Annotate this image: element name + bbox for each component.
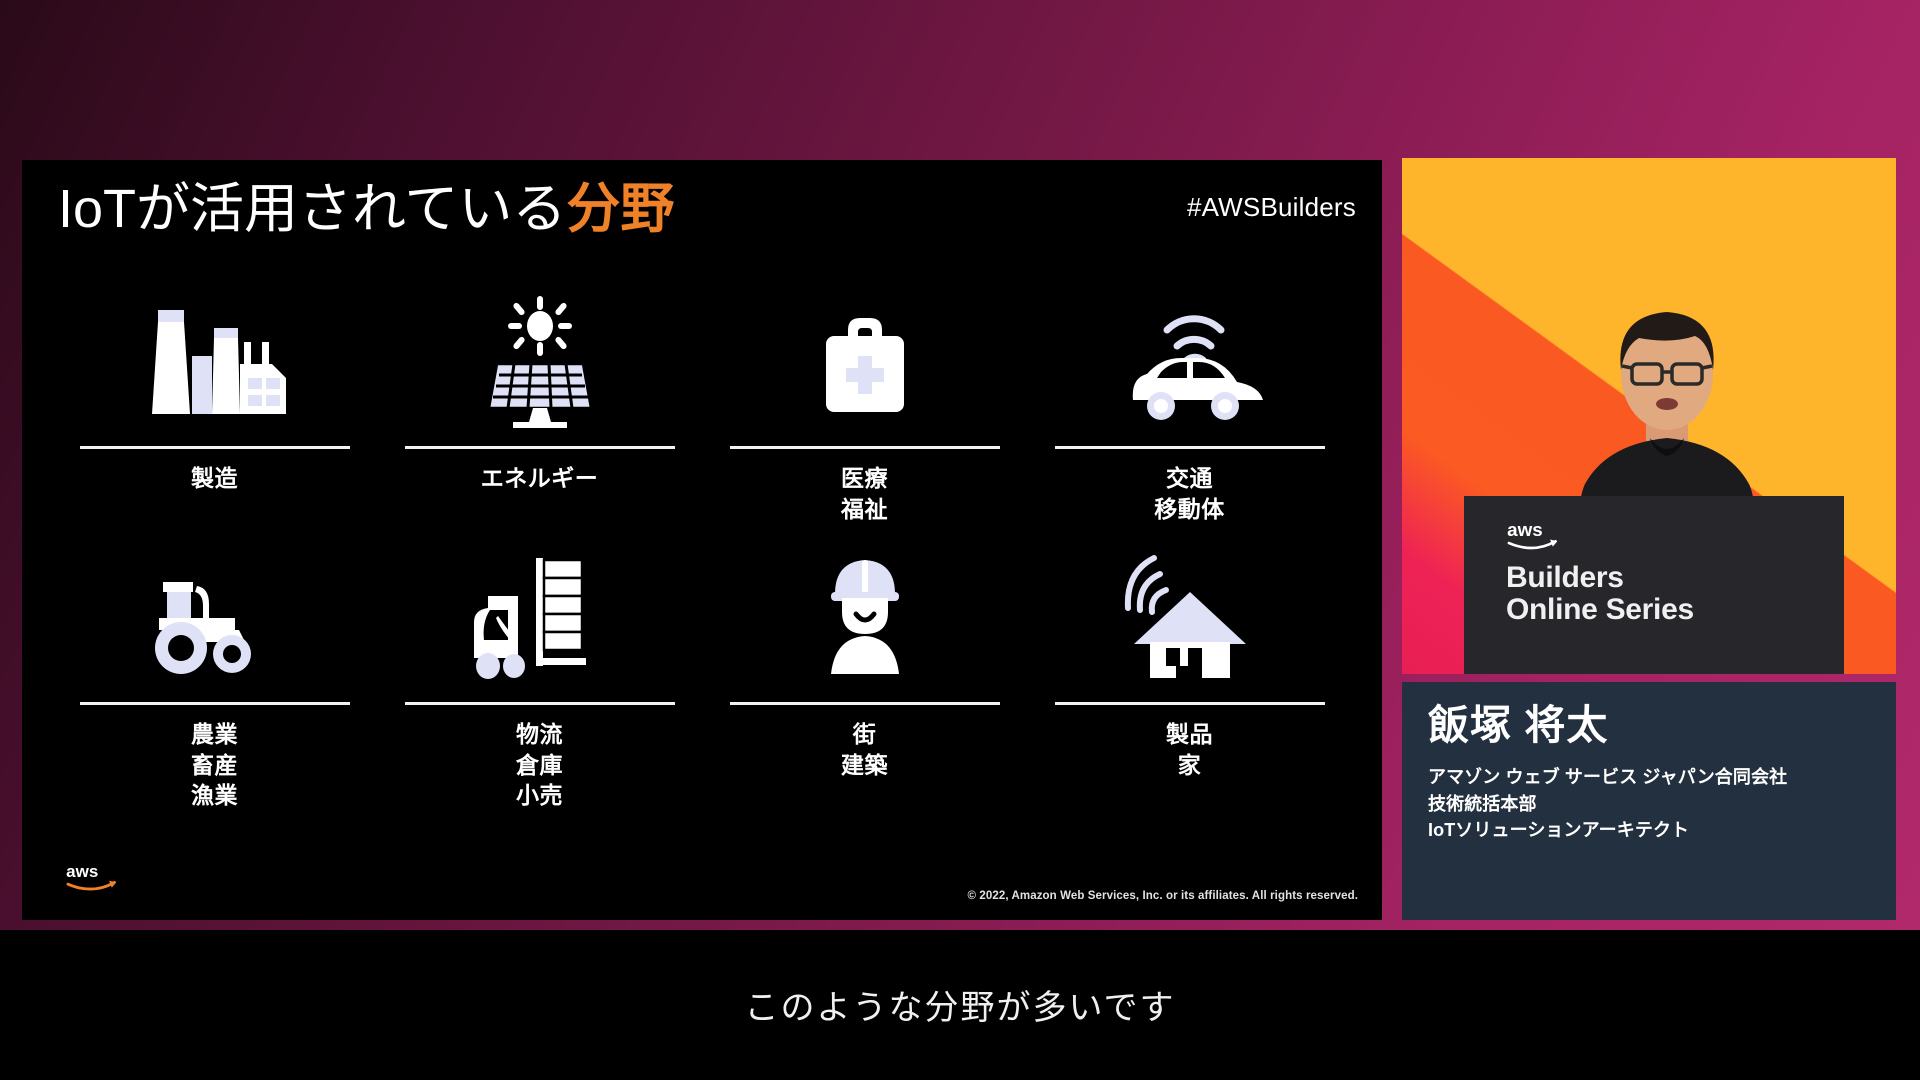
svg-text:aws: aws xyxy=(1507,519,1542,540)
solar-panel-icon xyxy=(377,290,702,440)
subtitle-caption: このような分野が多いです xyxy=(0,980,1920,1029)
category-item-healthcare: 医療 福祉 xyxy=(702,290,1027,524)
podium: aws Builders Online Series xyxy=(1464,496,1844,674)
category-item-logistics: 物流 倉庫 小売 xyxy=(377,546,702,811)
category-grid: 製造 xyxy=(52,290,1352,811)
slide-title-accent: 分野 xyxy=(566,179,674,239)
category-item-agriculture: 農業 畜産 漁業 xyxy=(52,546,377,811)
category-divider xyxy=(1055,446,1325,449)
podium-aws-logo: aws xyxy=(1506,518,1562,552)
podium-text: Builders Online Series xyxy=(1506,562,1694,627)
category-label: 街 建築 xyxy=(841,719,888,780)
category-divider xyxy=(730,702,1000,705)
category-item-manufacturing: 製造 xyxy=(52,290,377,524)
tractor-icon xyxy=(52,546,377,696)
aws-logo: aws xyxy=(66,860,120,894)
event-hashtag: #AWSBuilders xyxy=(1187,192,1356,223)
category-label: エネルギー xyxy=(481,463,599,494)
slide-title-main: IoTが活用されている xyxy=(58,179,566,239)
smart-home-icon xyxy=(1027,546,1352,696)
category-item-home: 製品 家 xyxy=(1027,546,1352,811)
category-item-energy: エネルギー xyxy=(377,290,702,524)
category-item-mobility: 交通 移動体 xyxy=(1027,290,1352,524)
medical-kit-icon xyxy=(702,290,1027,440)
category-divider xyxy=(80,702,350,705)
factory-icon xyxy=(52,290,377,440)
category-label: 農業 畜産 漁業 xyxy=(191,719,238,811)
svg-text:aws: aws xyxy=(66,862,98,881)
category-divider xyxy=(405,702,675,705)
speaker-name: 飯塚 将太 xyxy=(1428,704,1870,747)
category-divider xyxy=(405,446,675,449)
copyright-notice: © 2022, Amazon Web Services, Inc. or its… xyxy=(967,890,1358,902)
speaker-info-card: 飯塚 将太 アマゾン ウェブ サービス ジャパン合同会社 技術統括本部 IoTソ… xyxy=(1402,682,1896,920)
category-label: 製造 xyxy=(191,463,238,494)
forklift-icon xyxy=(377,546,702,696)
category-divider xyxy=(730,446,1000,449)
category-label: 製品 家 xyxy=(1166,719,1213,780)
category-divider xyxy=(80,446,350,449)
speaker-affiliation: アマゾン ウェブ サービス ジャパン合同会社 技術統括本部 IoTソリューション… xyxy=(1428,764,1870,844)
category-label: 物流 倉庫 小売 xyxy=(516,719,563,811)
category-label: 交通 移動体 xyxy=(1154,463,1225,524)
category-item-construction: 街 建築 xyxy=(702,546,1027,811)
category-label: 医療 福祉 xyxy=(841,463,888,524)
presentation-slide: IoTが活用されている分野 #AWSBuilders xyxy=(22,160,1382,920)
category-divider xyxy=(1055,702,1325,705)
speaker-video[interactable]: aws Builders Online Series aws Builders … xyxy=(1402,158,1896,674)
slide-title: IoTが活用されている分野 xyxy=(58,182,674,236)
connected-car-icon xyxy=(1027,290,1352,440)
worker-helmet-icon xyxy=(702,546,1027,696)
